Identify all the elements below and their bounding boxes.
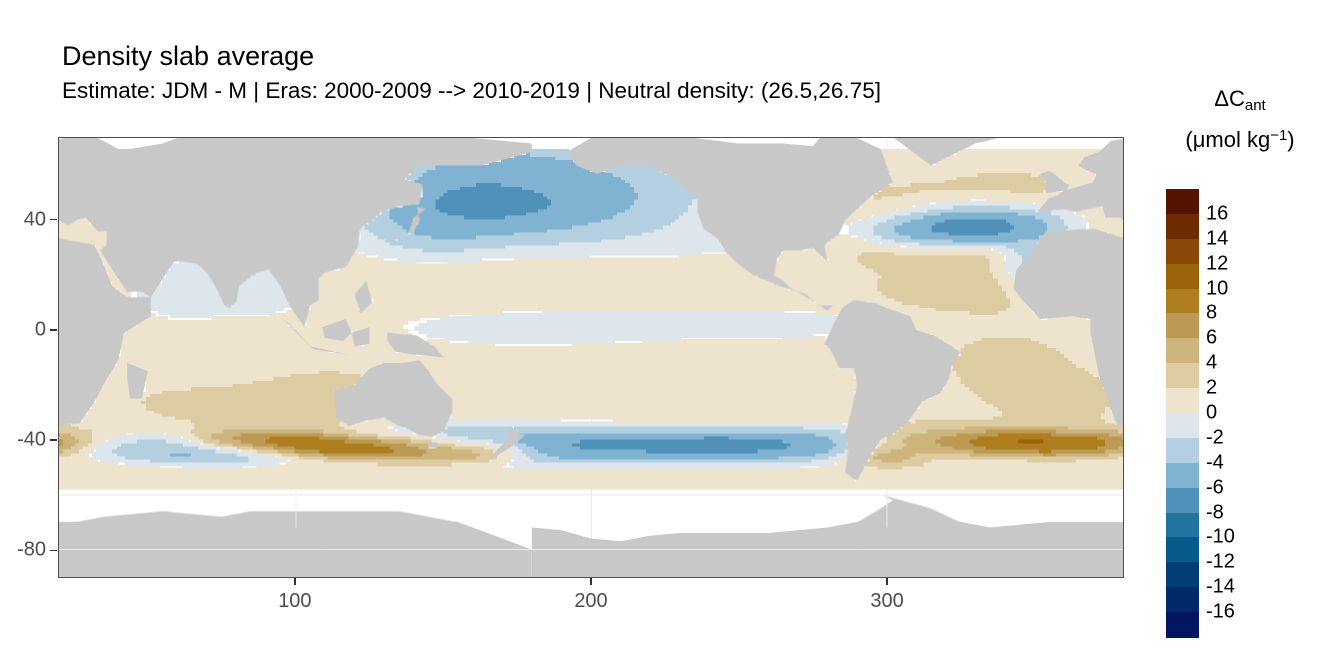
y-tick-mark (50, 439, 57, 440)
legend-units-exponent: −1 (1270, 127, 1287, 144)
legend-tick-label: 14 (1206, 227, 1228, 250)
figure-root: Density slab average Estimate: JDM - M |… (0, 0, 1344, 672)
legend-tick-label: 0 (1206, 402, 1217, 425)
map-panel (58, 137, 1124, 578)
legend-tick-label: -8 (1206, 501, 1224, 524)
legend-swatch (1166, 189, 1199, 214)
x-tick-label: 100 (278, 590, 311, 613)
y-tick-mark (50, 219, 57, 220)
legend-swatch (1166, 413, 1199, 438)
legend-title-subscript: ant (1245, 97, 1266, 114)
legend-colorbar (1166, 189, 1199, 637)
x-tick-mark (886, 578, 887, 585)
legend-swatch (1166, 214, 1199, 239)
legend-swatch (1166, 239, 1199, 264)
legend-swatch (1166, 363, 1199, 388)
legend-tick-label: 2 (1206, 377, 1217, 400)
map-heatmap-canvas (59, 138, 1123, 577)
page-title: Density slab average (62, 40, 1142, 72)
legend-swatch (1166, 612, 1199, 637)
legend-title-delta-c: ΔC (1214, 86, 1245, 111)
legend-tick-label: 16 (1206, 202, 1228, 225)
legend-tick-label: -12 (1206, 551, 1235, 574)
legend-swatch (1166, 289, 1199, 314)
legend-tick-label: 10 (1206, 277, 1228, 300)
x-tick-label: 200 (574, 590, 607, 613)
legend-tick-label: -4 (1206, 451, 1224, 474)
legend-swatch (1166, 438, 1199, 463)
legend-swatch (1166, 463, 1199, 488)
legend-swatch (1166, 388, 1199, 413)
x-tick-mark (590, 578, 591, 585)
x-axis-labels: 100200300 (58, 590, 1124, 620)
legend-tick-label: -10 (1206, 526, 1235, 549)
y-axis-labels: 400-40-80 (0, 137, 46, 578)
legend-swatch (1166, 513, 1199, 538)
legend-tick-labels: 1614121086420-2-4-6-8-10-12-14-16 (1206, 189, 1326, 637)
legend-units-open: (μmol kg (1185, 127, 1270, 152)
legend-swatch (1166, 338, 1199, 363)
legend-tick-label: -14 (1206, 576, 1235, 599)
legend-swatch (1166, 537, 1199, 562)
legend-tick-label: -2 (1206, 426, 1224, 449)
plot-subtitle: Estimate: JDM - M | Eras: 2000-2009 --> … (62, 77, 1142, 105)
x-axis-tick-marks (58, 578, 1124, 588)
legend-tick-label: -6 (1206, 476, 1224, 499)
legend-swatch (1166, 587, 1199, 612)
legend-tick-label: 4 (1206, 352, 1217, 375)
y-tick-label: 0 (35, 318, 46, 341)
y-tick-label: -40 (17, 429, 46, 452)
legend-swatch (1166, 562, 1199, 587)
legend-units-close: ) (1287, 127, 1294, 152)
legend-swatch (1166, 488, 1199, 513)
y-tick-mark (50, 329, 57, 330)
title-block: Density slab average Estimate: JDM - M |… (62, 40, 1142, 105)
x-tick-mark (294, 578, 295, 585)
legend-tick-label: 12 (1206, 252, 1228, 275)
legend-swatch (1166, 313, 1199, 338)
legend-tick-label: -16 (1206, 601, 1235, 624)
y-tick-label: -80 (17, 539, 46, 562)
legend: ΔCant (μmol kg−1) 1614121086420-2-4-6-8-… (1150, 84, 1344, 644)
legend-swatch (1166, 264, 1199, 289)
legend-tick-label: 8 (1206, 302, 1217, 325)
x-tick-label: 300 (870, 590, 903, 613)
y-tick-mark (50, 550, 57, 551)
legend-tick-label: 6 (1206, 327, 1217, 350)
legend-title: ΔCant (μmol kg−1) (1150, 84, 1330, 155)
y-tick-label: 40 (24, 208, 46, 231)
